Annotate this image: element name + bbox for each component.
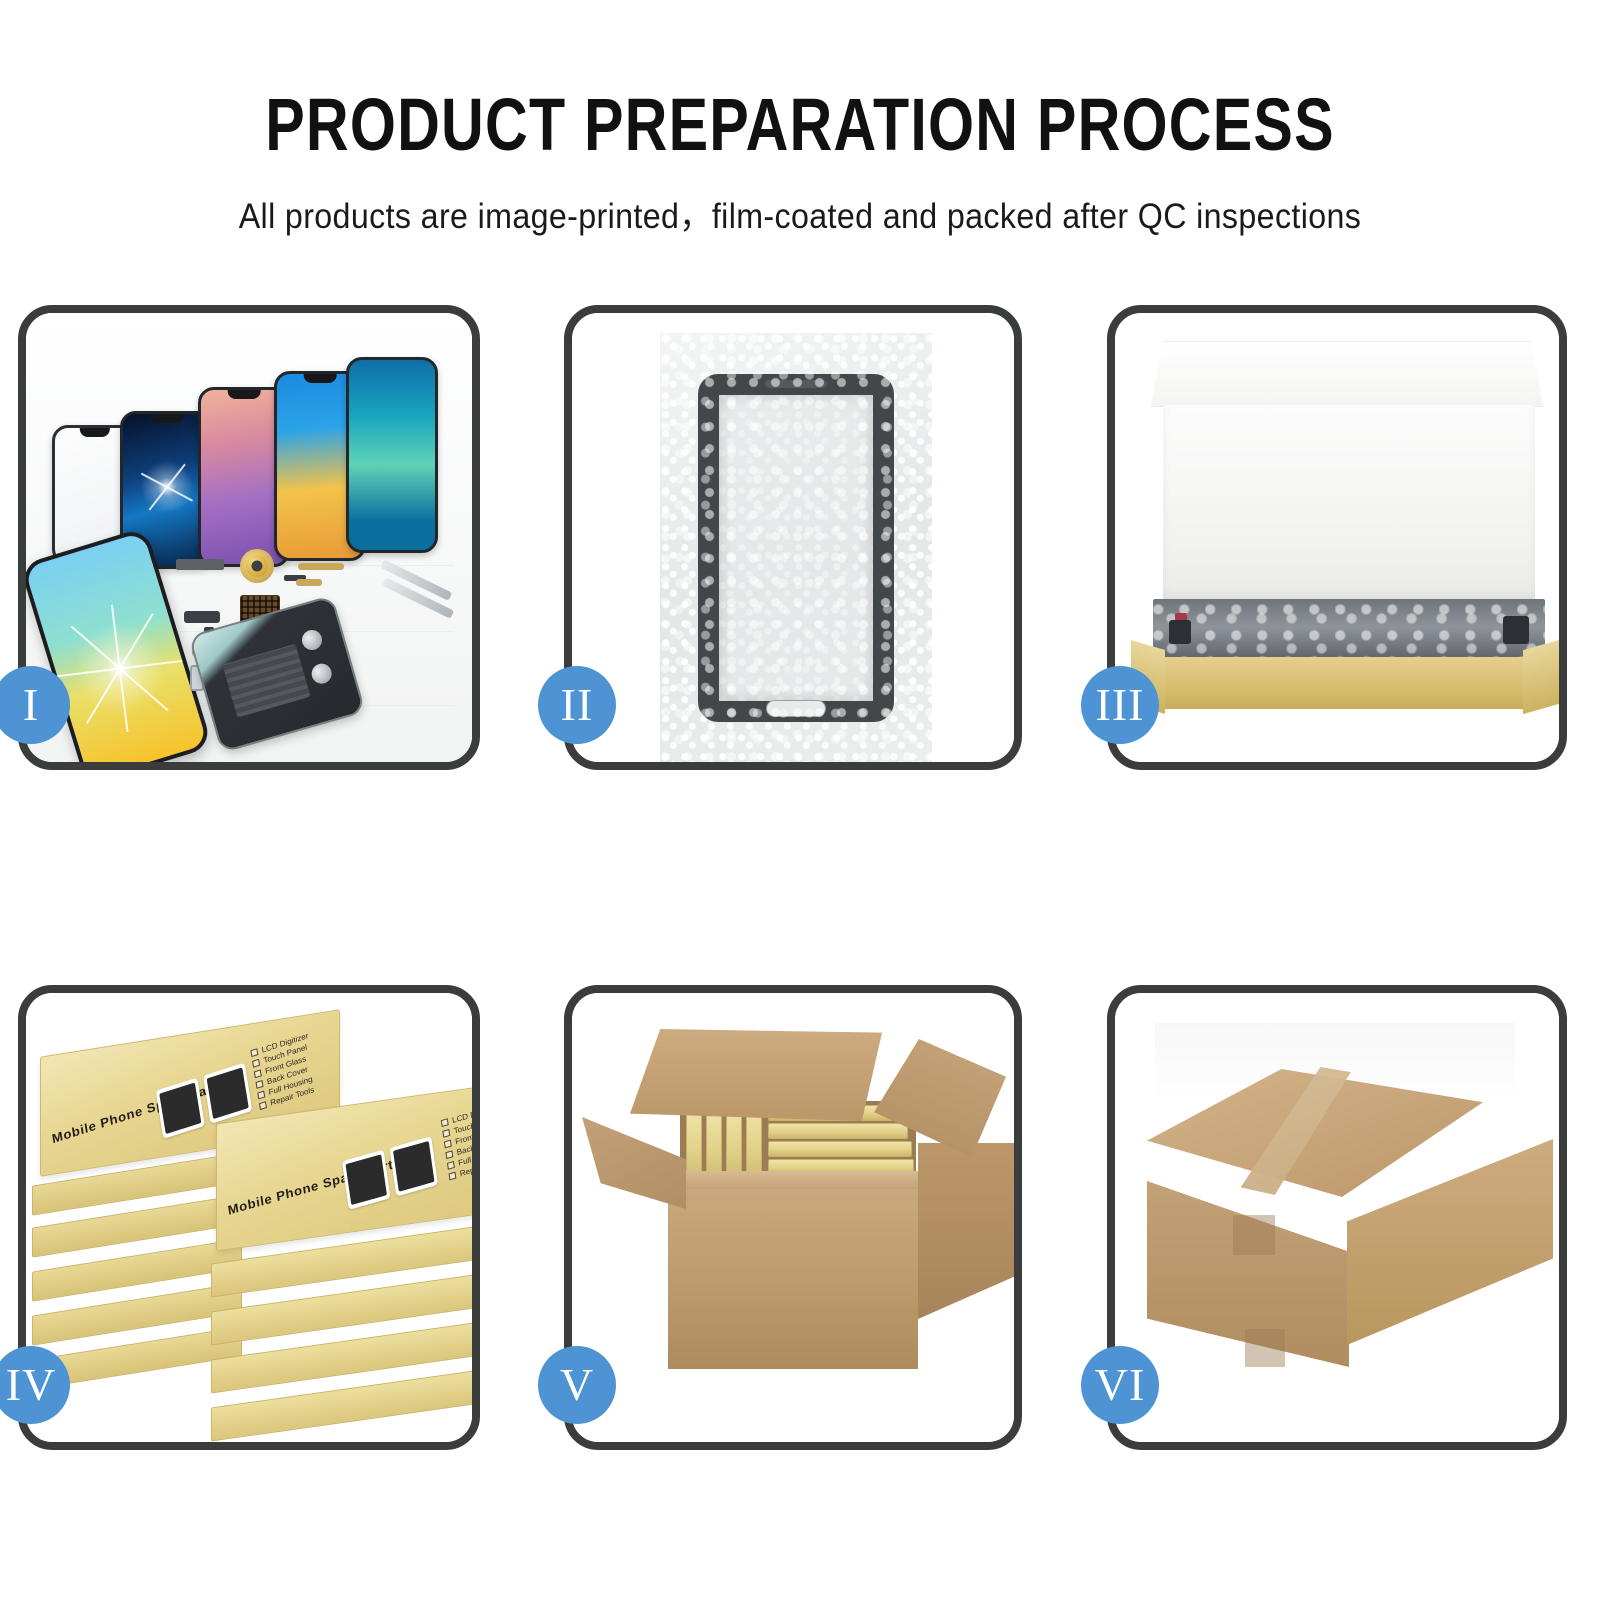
mailer-lid (1151, 341, 1543, 407)
wrapped-screen-assembly (698, 374, 894, 722)
gold-box-stack: Mobile Phone Spare Parts LCD Digitizer T… (26, 993, 472, 1442)
step-badge-5: V (538, 1346, 616, 1424)
step-card-4: Mobile Phone Spare Parts LCD Digitizer T… (18, 985, 480, 1450)
step-card-1: I (18, 305, 480, 770)
step-2-image (572, 313, 1014, 762)
tweezers-icon (378, 551, 470, 647)
step-5-image (572, 993, 1014, 1442)
retail-box-thumbnails (342, 1136, 438, 1210)
carton-filling-photo (572, 993, 1014, 1442)
phone-lineup (46, 351, 472, 566)
retail-box-checklist: LCD Digitizer Touch Panel Front Glass Ba… (441, 1103, 472, 1183)
mailer-box-photo (1115, 313, 1559, 762)
mailer-kraft-base (1143, 657, 1545, 709)
retail-box-stack-photo: Mobile Phone Spare Parts LCD Digitizer T… (26, 993, 472, 1442)
step-card-2: II (564, 305, 1022, 770)
process-step-grid: I II (0, 0, 1600, 1600)
sealed-carton-photo (1115, 993, 1559, 1442)
step-card-5: V (564, 985, 1022, 1450)
product-range-photo (26, 313, 472, 762)
phone-teal-icon (346, 357, 438, 553)
step-card-6: VI (1107, 985, 1567, 1450)
step-badge-3: III (1081, 666, 1159, 744)
bubble-film (660, 333, 932, 762)
step-3-image (1115, 313, 1559, 762)
step-1-image (26, 313, 472, 762)
step-badge-6: VI (1081, 1346, 1159, 1424)
infographic-page: PRODUCT PREPARATION PROCESS All products… (0, 0, 1600, 1600)
step-6-image (1115, 993, 1559, 1442)
carton-flap-back (630, 1029, 882, 1121)
step-badge-2: II (538, 666, 616, 744)
foam-liner (1163, 405, 1535, 601)
retail-box-checklist: LCD Digitizer Touch Panel Front Glass Ba… (250, 1031, 318, 1113)
step-4-image: Mobile Phone Spare Parts LCD Digitizer T… (26, 993, 472, 1442)
wrapped-screen-in-box (1153, 599, 1545, 661)
carton-flap-left (582, 1117, 686, 1209)
carton-side-face (918, 1143, 1014, 1319)
step-card-3: III (1107, 305, 1567, 770)
wireless-coil-icon (240, 549, 274, 583)
bubble-wrap-photo (572, 313, 1014, 762)
carton-front-face (668, 1189, 918, 1369)
